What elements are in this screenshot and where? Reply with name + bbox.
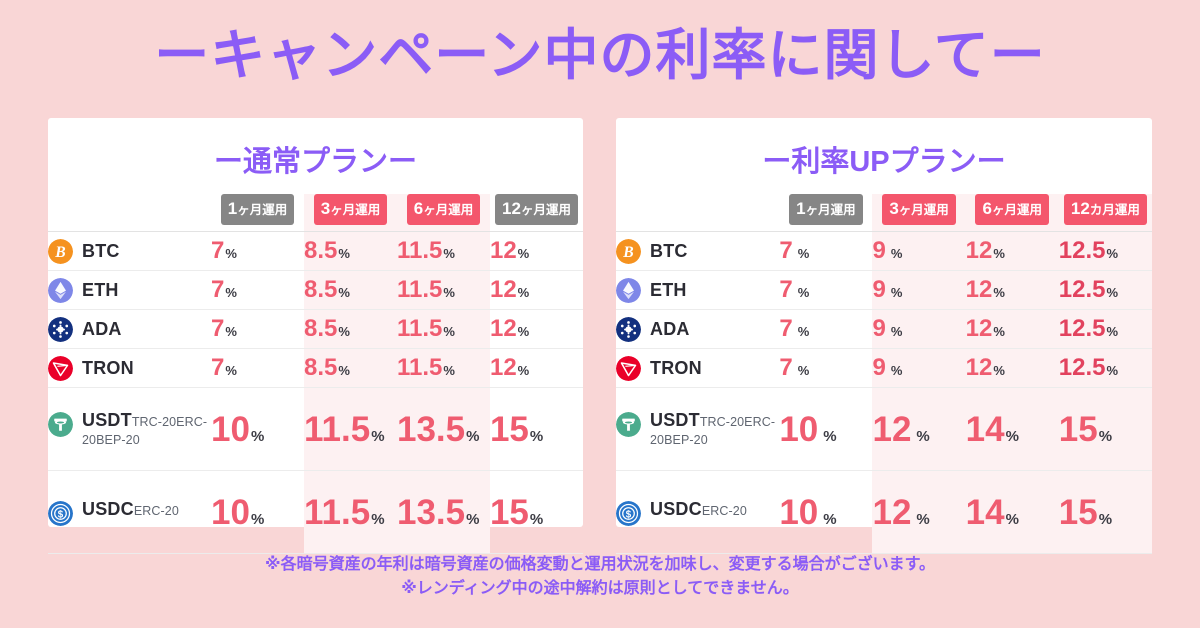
term-badge-suffix: ヶ月運用 [899, 203, 949, 217]
coin-network-label: BEP-20 [664, 433, 708, 447]
term-badge-suffix: ヶ月運用 [521, 203, 571, 217]
rate-cell: 12% [966, 271, 1059, 310]
plan-card-upgraded: ー利率UPプランー 1ヶ月運用3ヶ月運用6ヶ月運用12カ月運用BBTC7%9%1… [616, 118, 1152, 527]
coin-name: USDC [82, 499, 134, 519]
percent-symbol: % [518, 324, 530, 339]
percent-symbol: % [530, 511, 543, 528]
table-row: ADA7%9%12%12.5% [616, 310, 1152, 349]
rate-cell: 12.5% [1059, 349, 1152, 388]
rate-cell: 14% [966, 471, 1059, 554]
rate-cell: 13.5% [397, 471, 490, 554]
usdt-icon [616, 410, 641, 437]
percent-symbol: % [518, 285, 530, 300]
rate-value: 12 [490, 315, 517, 342]
rate-value: 13.5 [397, 493, 465, 532]
percent-symbol: % [798, 363, 810, 378]
rate-value: 7 [779, 315, 792, 342]
term-badge-12: 12カ月運用 [1064, 194, 1147, 225]
rate-value: 12.5 [1059, 276, 1106, 303]
usdt-icon [48, 410, 73, 437]
percent-symbol: % [1107, 246, 1119, 261]
page-title: ーキャンペーン中の利率に関してー [0, 24, 1200, 87]
percent-symbol: % [993, 246, 1005, 261]
header-cell-term-1: 1ヶ月運用 [779, 194, 872, 232]
rate-cell: 11.5% [304, 388, 397, 471]
rate-cell: 7% [211, 310, 304, 349]
rate-cell: 9% [872, 349, 965, 388]
rate-cell: 12% [490, 232, 583, 271]
rate-cell: 7% [779, 349, 872, 388]
rate-value: 7 [211, 237, 224, 264]
rate-value: 12 [966, 315, 993, 342]
btc-icon: B [48, 239, 73, 264]
term-badge-12: 12ヶ月運用 [495, 194, 578, 225]
rate-value: 7 [211, 315, 224, 342]
coin-cell: ADA [616, 310, 779, 349]
coin-name: BTC [650, 241, 688, 261]
term-badge-6: 6ヶ月運用 [975, 194, 1048, 225]
rate-cell: 8.5% [304, 310, 397, 349]
percent-symbol: % [1107, 324, 1119, 339]
footnote-line-1: ※各暗号資産の年利は暗号資産の価格変動と運用状況を加味し、変更する場合がございま… [0, 553, 1200, 577]
rate-cell: 9% [872, 310, 965, 349]
percent-symbol: % [798, 285, 810, 300]
table-header-row: 1ヶ月運用3ヶ月運用6ヶ月運用12ヶ月運用 [48, 194, 583, 232]
rate-value: 11.5 [397, 237, 442, 264]
term-badge-suffix: ヶ月運用 [423, 203, 473, 217]
term-badge-suffix: ヶ月運用 [806, 203, 856, 217]
rate-table: 1ヶ月運用3ヶ月運用6ヶ月運用12ヶ月運用BBTC7%8.5%11.5%12%E… [48, 194, 583, 554]
table-row: USDTTRC-20ERC-20BEP-2010%12%14%15% [616, 388, 1152, 471]
rate-cell: 12% [872, 471, 965, 554]
percent-symbol: % [916, 428, 929, 445]
percent-symbol: % [251, 428, 264, 445]
rate-cell: 7% [211, 232, 304, 271]
percent-symbol: % [518, 246, 530, 261]
rate-value: 8.5 [304, 315, 337, 342]
coin-cell: ETH [616, 271, 779, 310]
rate-cell: 11.5% [397, 271, 490, 310]
rate-cell: 7% [211, 349, 304, 388]
rate-value: 7 [779, 276, 792, 303]
percent-symbol: % [1099, 428, 1112, 445]
rate-value: 15 [1059, 410, 1098, 449]
coin-cell: ADA [48, 310, 211, 349]
term-badge-number: 6 [982, 199, 991, 218]
percent-symbol: % [993, 363, 1005, 378]
rate-cell: 11.5% [397, 310, 490, 349]
rate-value: 15 [490, 493, 529, 532]
rate-cell: 11.5% [397, 349, 490, 388]
percent-symbol: % [338, 246, 350, 261]
rate-value: 12 [872, 493, 911, 532]
tron-icon [48, 356, 73, 381]
rate-value: 12 [872, 410, 911, 449]
rate-value: 12 [966, 237, 993, 264]
coin-cell: USDTTRC-20ERC-20BEP-20 [616, 388, 779, 471]
rate-value: 7 [779, 237, 792, 264]
table-header-row: 1ヶ月運用3ヶ月運用6ヶ月運用12カ月運用 [616, 194, 1152, 232]
percent-symbol: % [798, 246, 810, 261]
coin-cell: BBTC [616, 232, 779, 271]
term-badge-suffix: カ月運用 [1090, 203, 1140, 217]
rate-value: 9 [872, 237, 885, 264]
footnotes: ※各暗号資産の年利は暗号資産の価格変動と運用状況を加味し、変更する場合がございま… [0, 553, 1200, 601]
percent-symbol: % [798, 324, 810, 339]
rate-cell: 8.5% [304, 349, 397, 388]
rate-cell: 12% [490, 310, 583, 349]
percent-symbol: % [530, 428, 543, 445]
percent-symbol: % [1107, 363, 1119, 378]
table-row: USDTTRC-20ERC-20BEP-2010%11.5%13.5%15% [48, 388, 583, 471]
coin-name: ETH [82, 280, 119, 300]
percent-symbol: % [443, 246, 455, 261]
term-badge-suffix: ヶ月運用 [237, 203, 287, 217]
eth-icon [48, 278, 73, 303]
rate-value: 12 [966, 354, 993, 381]
tron-icon [616, 356, 641, 381]
term-badge-1: 1ヶ月運用 [221, 194, 294, 225]
percent-symbol: % [891, 285, 903, 300]
percent-symbol: % [466, 428, 479, 445]
rate-value: 12 [490, 276, 517, 303]
plan-title-upgraded: ー利率UPプランー [616, 138, 1152, 180]
percent-symbol: % [891, 246, 903, 261]
rate-value: 10 [779, 410, 818, 449]
coin-cell: TRON [616, 349, 779, 388]
percent-symbol: % [338, 285, 350, 300]
percent-symbol: % [443, 285, 455, 300]
table-row: ETH7%9%12%12.5% [616, 271, 1152, 310]
term-badge-6: 6ヶ月運用 [407, 194, 480, 225]
percent-symbol: % [518, 363, 530, 378]
rate-cell: 7% [779, 271, 872, 310]
coin-name: USDT [82, 410, 132, 430]
rate-cell: 15% [490, 388, 583, 471]
rate-cell: 10% [779, 388, 872, 471]
term-badge-number: 12 [502, 199, 521, 218]
eth-icon [616, 278, 641, 303]
term-badge-1: 1ヶ月運用 [789, 194, 862, 225]
usdc-icon: $ [48, 499, 73, 526]
rate-cell: 9% [872, 232, 965, 271]
rate-value: 9 [872, 354, 885, 381]
term-badge-number: 6 [414, 199, 423, 218]
term-badge-number: 3 [321, 199, 330, 218]
rate-cell: 9% [872, 271, 965, 310]
rate-cell: 12.5% [1059, 232, 1152, 271]
percent-symbol: % [225, 285, 237, 300]
coin-cell: BBTC [48, 232, 211, 271]
header-cell-coin [616, 194, 779, 232]
coin-network-label: TRC-20 [132, 415, 176, 429]
rate-cell: 12% [966, 232, 1059, 271]
svg-text:B: B [622, 243, 633, 260]
coin-network-label: ERC-20 [134, 504, 179, 518]
btc-icon: B [616, 239, 641, 264]
ada-icon [48, 317, 73, 342]
ada-icon [616, 317, 641, 342]
term-badge-number: 1 [228, 199, 237, 218]
coin-cell: $USDCERC-20 [48, 471, 211, 554]
table-row: TRON7%8.5%11.5%12% [48, 349, 583, 388]
rate-cell: 12.5% [1059, 271, 1152, 310]
rate-value: 11.5 [304, 493, 370, 532]
percent-symbol: % [225, 363, 237, 378]
coin-name: ADA [650, 319, 690, 339]
rate-cell: 12% [490, 271, 583, 310]
header-cell-term-1: 1ヶ月運用 [211, 194, 304, 232]
header-cell-term-12: 12カ月運用 [1059, 194, 1152, 232]
rate-value: 15 [1059, 493, 1098, 532]
svg-text:$: $ [58, 509, 64, 520]
rate-cell: 8.5% [304, 232, 397, 271]
rate-cell: 12.5% [1059, 310, 1152, 349]
rate-cell: 10% [211, 388, 304, 471]
rate-value: 12.5 [1059, 354, 1106, 381]
rate-value: 11.5 [397, 354, 442, 381]
coin-name: USDC [650, 499, 702, 519]
rate-value: 14 [966, 410, 1005, 449]
rate-table: 1ヶ月運用3ヶ月運用6ヶ月運用12カ月運用BBTC7%9%12%12.5%ETH… [616, 194, 1152, 554]
coin-name: TRON [650, 358, 702, 378]
rate-cell: 7% [211, 271, 304, 310]
rate-value: 9 [872, 276, 885, 303]
rate-cell: 7% [779, 232, 872, 271]
percent-symbol: % [823, 511, 836, 528]
coin-network-label: BEP-20 [96, 433, 140, 447]
rate-value: 7 [779, 354, 792, 381]
rate-table-standard-container: 1ヶ月運用3ヶ月運用6ヶ月運用12ヶ月運用BBTC7%8.5%11.5%12%E… [48, 194, 583, 554]
rate-cell: 11.5% [304, 471, 397, 554]
percent-symbol: % [338, 324, 350, 339]
rate-cell: 7% [779, 310, 872, 349]
header-cell-term-12: 12ヶ月運用 [490, 194, 583, 232]
term-badge-number: 12 [1071, 199, 1090, 218]
rate-value: 10 [211, 493, 250, 532]
coin-cell: ETH [48, 271, 211, 310]
rate-value: 7 [211, 276, 224, 303]
percent-symbol: % [1099, 511, 1112, 528]
rate-cell: 12% [966, 349, 1059, 388]
rate-cell: 10% [211, 471, 304, 554]
percent-symbol: % [338, 363, 350, 378]
usdc-icon: $ [616, 499, 641, 526]
coin-network-label: ERC-20 [702, 504, 747, 518]
percent-symbol: % [1107, 285, 1119, 300]
term-badge-number: 1 [796, 199, 805, 218]
term-badge-3: 3ヶ月運用 [882, 194, 955, 225]
rate-value: 12.5 [1059, 315, 1106, 342]
rate-value: 7 [211, 354, 224, 381]
percent-symbol: % [993, 285, 1005, 300]
table-row: BBTC7%8.5%11.5%12% [48, 232, 583, 271]
rate-cell: 12% [966, 310, 1059, 349]
rate-cell: 10% [779, 471, 872, 554]
term-badge-3: 3ヶ月運用 [314, 194, 387, 225]
percent-symbol: % [443, 363, 455, 378]
rate-value: 12.5 [1059, 237, 1106, 264]
rate-value: 13.5 [397, 410, 465, 449]
rate-value: 9 [872, 315, 885, 342]
rate-value: 10 [211, 410, 250, 449]
rate-cell: 12% [872, 388, 965, 471]
coin-name: ETH [650, 280, 687, 300]
percent-symbol: % [993, 324, 1005, 339]
coin-cell: USDTTRC-20ERC-20BEP-20 [48, 388, 211, 471]
table-row: TRON7%9%12%12.5% [616, 349, 1152, 388]
rate-value: 15 [490, 410, 529, 449]
header-cell-coin [48, 194, 211, 232]
table-row: ADA7%8.5%11.5%12% [48, 310, 583, 349]
percent-symbol: % [891, 363, 903, 378]
header-cell-term-3: 3ヶ月運用 [304, 194, 397, 232]
rate-cell: 15% [1059, 388, 1152, 471]
percent-symbol: % [251, 511, 264, 528]
rate-cell: 13.5% [397, 388, 490, 471]
footnote-line-2: ※レンディング中の途中解約は原則としてできません。 [0, 577, 1200, 601]
percent-symbol: % [225, 246, 237, 261]
coin-name: ADA [82, 319, 122, 339]
rate-value: 12 [966, 276, 993, 303]
rate-value: 8.5 [304, 354, 337, 381]
percent-symbol: % [371, 428, 384, 445]
rate-cell: 14% [966, 388, 1059, 471]
svg-text:$: $ [626, 509, 632, 520]
rate-value: 8.5 [304, 237, 337, 264]
coin-network-label: TRC-20 [700, 415, 744, 429]
rate-cell: 12% [490, 349, 583, 388]
coin-name: USDT [650, 410, 700, 430]
percent-symbol: % [1006, 428, 1019, 445]
percent-symbol: % [371, 511, 384, 528]
table-row: $USDCERC-2010%11.5%13.5%15% [48, 471, 583, 554]
rate-value: 14 [966, 493, 1005, 532]
rate-value: 12 [490, 237, 517, 264]
term-badge-suffix: ヶ月運用 [992, 203, 1042, 217]
rate-value: 11.5 [304, 410, 370, 449]
coin-cell: TRON [48, 349, 211, 388]
rate-value: 12 [490, 354, 517, 381]
percent-symbol: % [1006, 511, 1019, 528]
percent-symbol: % [891, 324, 903, 339]
header-cell-term-6: 6ヶ月運用 [966, 194, 1059, 232]
header-cell-term-6: 6ヶ月運用 [397, 194, 490, 232]
table-row: $USDCERC-2010%12%14%15% [616, 471, 1152, 554]
percent-symbol: % [225, 324, 237, 339]
rate-table-upgraded-container: 1ヶ月運用3ヶ月運用6ヶ月運用12カ月運用BBTC7%9%12%12.5%ETH… [616, 194, 1152, 554]
percent-symbol: % [916, 511, 929, 528]
percent-symbol: % [466, 511, 479, 528]
svg-text:B: B [54, 243, 65, 260]
rate-cell: 15% [1059, 471, 1152, 554]
rate-cell: 8.5% [304, 271, 397, 310]
table-row: ETH7%8.5%11.5%12% [48, 271, 583, 310]
header-cell-term-3: 3ヶ月運用 [872, 194, 965, 232]
plan-title-standard: ー通常プランー [48, 138, 583, 180]
term-badge-suffix: ヶ月運用 [330, 203, 380, 217]
rate-value: 8.5 [304, 276, 337, 303]
rate-cell: 15% [490, 471, 583, 554]
coin-name: TRON [82, 358, 134, 378]
term-badge-number: 3 [889, 199, 898, 218]
rate-value: 11.5 [397, 276, 442, 303]
coin-cell: $USDCERC-20 [616, 471, 779, 554]
plan-card-standard: ー通常プランー 1ヶ月運用3ヶ月運用6ヶ月運用12ヶ月運用BBTC7%8.5%1… [48, 118, 583, 527]
percent-symbol: % [823, 428, 836, 445]
coin-name: BTC [82, 241, 120, 261]
percent-symbol: % [443, 324, 455, 339]
rate-value: 11.5 [397, 315, 442, 342]
rate-cell: 11.5% [397, 232, 490, 271]
rate-value: 10 [779, 493, 818, 532]
table-row: BBTC7%9%12%12.5% [616, 232, 1152, 271]
